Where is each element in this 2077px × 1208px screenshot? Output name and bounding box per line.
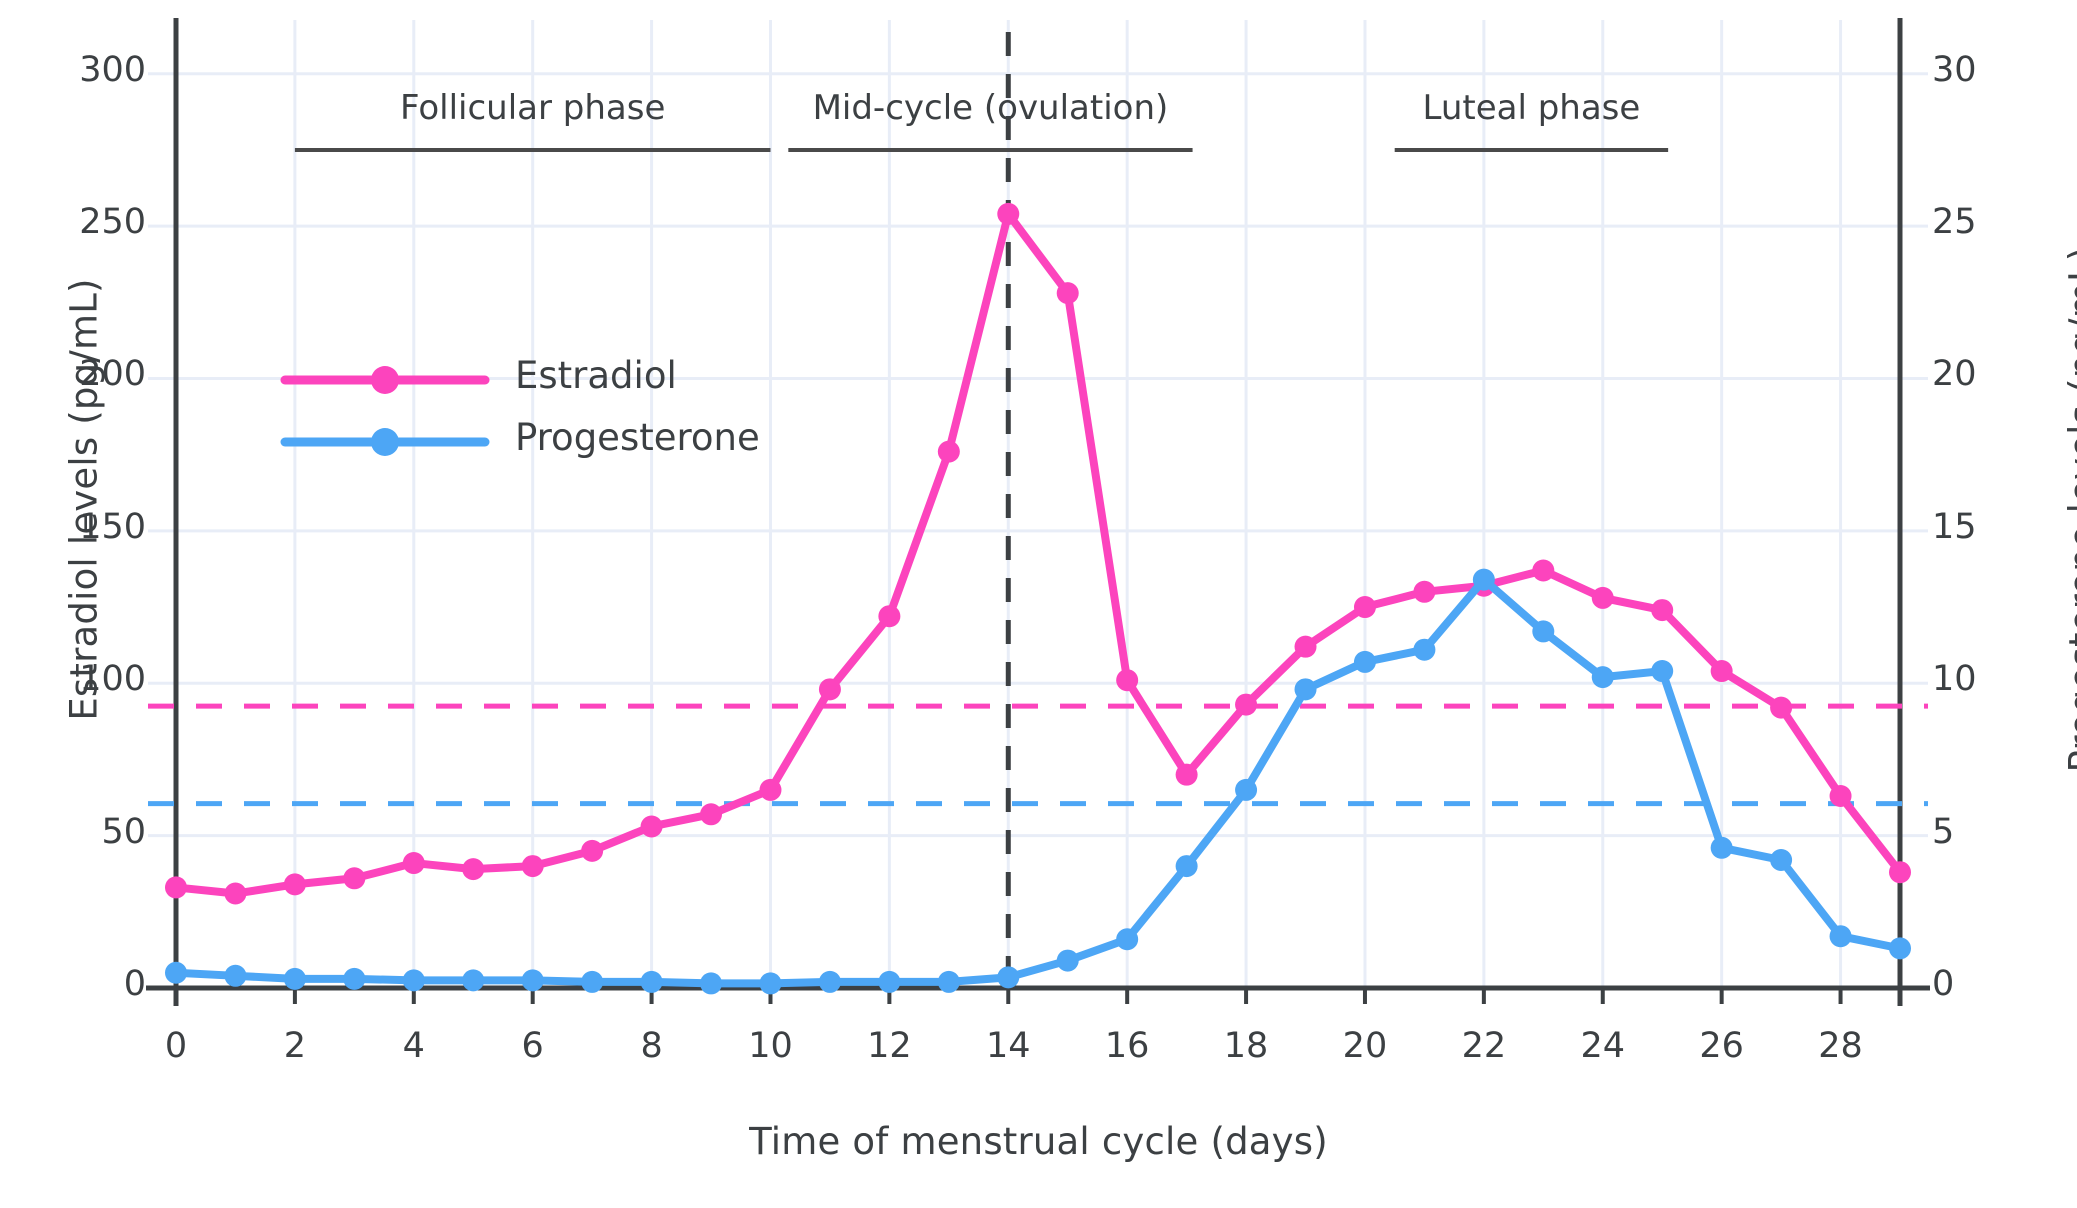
x-axis-tick-label: 26 [1662,1026,1782,1066]
gridlines [148,20,1928,988]
y-axis-right-tick-label: 20 [1932,354,2072,394]
x-axis-tick-label: 18 [1186,1026,1306,1066]
x-axis-tick-label: 16 [1067,1026,1187,1066]
y-axis-left-tick-label: 250 [6,202,146,242]
y-axis-left-tick-label: 50 [6,812,146,852]
chart-canvas: Estradiol levels (pg/mL) Progesterone le… [0,0,2077,1208]
x-axis-tick-label: 4 [354,1026,474,1066]
y-axis-left-tick-label: 150 [6,507,146,547]
y-axis-right-tick-label: 15 [1932,507,2072,547]
x-axis-tick-label: 8 [592,1026,712,1066]
y-axis-left-tick-label: 100 [6,659,146,699]
legend-label-progesterone: Progesterone [515,416,760,459]
x-axis-tick-label: 28 [1781,1026,1901,1066]
y-axis-right-tick-label: 30 [1932,50,2072,90]
y-axis-right-tick-label: 5 [1932,812,2072,852]
y-axis-left-tick-label: 0 [6,964,146,1004]
y-axis-left-tick-label: 200 [6,354,146,394]
x-axis-tick-label: 14 [948,1026,1068,1066]
x-axis-tick-label: 12 [829,1026,949,1066]
y-axis-right-tick-label: 25 [1932,202,2072,242]
y-axis-right-tick-label: 0 [1932,964,2072,1004]
x-axis-tick-label: 24 [1543,1026,1663,1066]
x-axis-tick-label: 6 [473,1026,593,1066]
legend-label-estradiol: Estradiol [515,354,677,397]
x-axis-tick-label: 20 [1305,1026,1425,1066]
y-axis-right-tick-label: 10 [1932,659,2072,699]
phase-label-luteal-phase: Luteal phase [1131,88,1931,128]
x-axis-tick-label: 0 [116,1026,236,1066]
x-axis-tick-label: 22 [1424,1026,1544,1066]
legend-marks [285,366,485,456]
x-axis-tick-label: 2 [235,1026,355,1066]
data-series [165,203,1911,995]
y-axis-left-tick-label: 300 [6,50,146,90]
x-axis-tick-label: 10 [710,1026,830,1066]
